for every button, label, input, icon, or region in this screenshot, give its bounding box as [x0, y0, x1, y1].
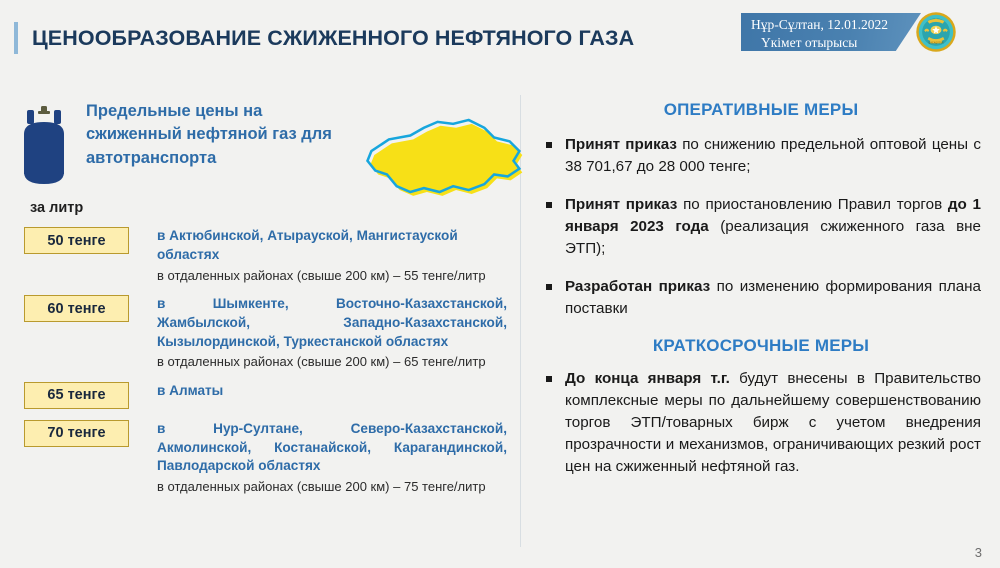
- left-column: Предельные цены на сжиженный нефтяной га…: [18, 100, 513, 496]
- price-description: в Алматы: [157, 382, 507, 403]
- price-description: в Шымкенте, Восточно-Казахстанской, Жамб…: [157, 295, 507, 371]
- price-row: 50 тенге в Актюбинской, Атырауской, Манг…: [18, 227, 513, 284]
- gas-cylinder-icon: [18, 104, 70, 192]
- page-number: 3: [975, 545, 982, 560]
- bullet-bold-lead: До конца января т.г.: [565, 370, 730, 387]
- price-remote-note: в отдаленных районах (свыше 200 км) – 75…: [157, 478, 507, 496]
- price-regions: в Шымкенте, Восточно-Казахстанской, Жамб…: [157, 295, 507, 351]
- title-accent-bar: [14, 22, 18, 54]
- bullet-item: До конца января т.г. будут внесены в Пра…: [541, 368, 981, 478]
- bullet-bold-lead: Разработан приказ: [565, 278, 710, 295]
- price-badge: 60 тенге: [24, 295, 129, 322]
- price-row: 65 тенге в Алматы: [18, 382, 513, 409]
- price-regions: в Актюбинской, Атырауской, Мангистауской…: [157, 227, 507, 265]
- header-banner: Нұр-Сұлтан, 12.01.2022 Үкімет отырысы: [741, 13, 921, 51]
- kazakhstan-map-icon: [348, 105, 533, 205]
- kazakhstan-emblem-icon: QAZAQSTAN: [915, 11, 957, 53]
- bullet-bold-lead: Принят приказ: [565, 136, 677, 153]
- slide: Нұр-Сұлтан, 12.01.2022 Үкімет отырысы QA…: [0, 0, 1000, 568]
- section-heading-shortterm: КРАТКОСРОЧНЫЕ МЕРЫ: [541, 336, 981, 356]
- bullet-item: Принят приказ по приостановлению Правил …: [541, 194, 981, 260]
- price-badge: 50 тенге: [24, 227, 129, 254]
- svg-text:QAZAQSTAN: QAZAQSTAN: [928, 41, 943, 44]
- bullet-text: по приостановлению Правил торгов: [677, 196, 948, 213]
- price-badge: 65 тенге: [24, 382, 129, 409]
- price-remote-note: в отдаленных районах (свыше 200 км) – 65…: [157, 353, 507, 371]
- price-badge: 70 тенге: [24, 420, 129, 447]
- title-text: ЦЕНООБРАЗОВАНИЕ СЖИЖЕННОГО НЕФТЯНОГО ГАЗ…: [32, 22, 634, 54]
- bullet-item: Разработан приказ по изменению формирова…: [541, 276, 981, 320]
- bullet-item: Принят приказ по снижению предельной опт…: [541, 134, 981, 178]
- bullet-bold-lead: Принят приказ: [565, 196, 677, 213]
- price-regions: в Алматы: [157, 382, 507, 401]
- section-heading-operational: ОПЕРАТИВНЫЕ МЕРЫ: [541, 100, 981, 120]
- lead-title: Предельные цены на сжиженный нефтяной га…: [86, 100, 336, 170]
- price-regions: в Нур-Султане, Северо-Казахстанской, Акм…: [157, 420, 507, 476]
- price-row: 60 тенге в Шымкенте, Восточно-Казахстанс…: [18, 295, 513, 371]
- right-column: ОПЕРАТИВНЫЕ МЕРЫ Принят приказ по снижен…: [541, 100, 981, 494]
- price-description: в Актюбинской, Атырауской, Мангистауской…: [157, 227, 507, 284]
- lead-row: Предельные цены на сжиженный нефтяной га…: [18, 100, 513, 192]
- price-row: 70 тенге в Нур-Султане, Северо-Казахстан…: [18, 420, 513, 496]
- header-banner-subtitle: Үкімет отырысы: [751, 34, 913, 52]
- page-title: ЦЕНООБРАЗОВАНИЕ СЖИЖЕННОГО НЕФТЯНОГО ГАЗ…: [14, 22, 634, 54]
- price-remote-note: в отдаленных районах (свыше 200 км) – 55…: [157, 267, 507, 285]
- header-banner-date: Нұр-Сұлтан, 12.01.2022: [751, 16, 913, 34]
- price-description: в Нур-Султане, Северо-Казахстанской, Акм…: [157, 420, 507, 496]
